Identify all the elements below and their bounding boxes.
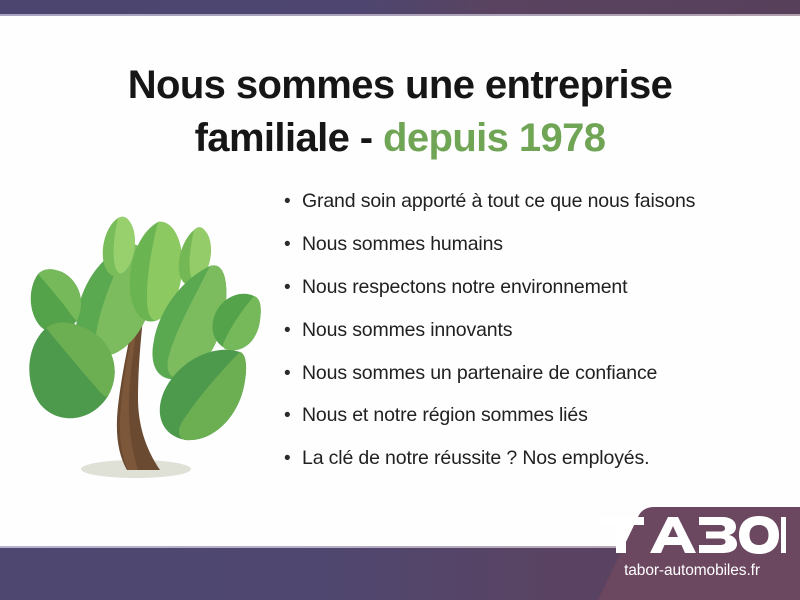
tabor-wordmark-icon	[598, 515, 786, 555]
bullet-icon: •	[284, 321, 302, 340]
list-item: • Nous respectons notre environnement	[284, 276, 784, 299]
brand-logo-panel[interactable]: tabor-automobiles.fr TABOR	[550, 505, 800, 600]
bullet-icon: •	[284, 449, 302, 468]
brand-tagline: tabor-automobiles.fr	[592, 562, 792, 580]
list-item-label: Nous et notre région sommes liés	[302, 404, 588, 427]
slide-canvas: Nous sommes une entreprise familiale - d…	[0, 0, 800, 600]
bullet-icon: •	[284, 406, 302, 425]
value-list: • Grand soin apporté à tout ce que nous …	[284, 190, 784, 490]
list-item-label: Nous sommes innovants	[302, 319, 512, 342]
list-item-label: La clé de notre réussite ? Nos employés.	[302, 447, 649, 470]
list-item: • La clé de notre réussite ? Nos employé…	[284, 447, 784, 470]
brand-logo-content: tabor-automobiles.fr TABOR	[592, 515, 792, 580]
page-title-line-1: Nous sommes une entreprise	[128, 63, 673, 107]
list-item-label: Nous sommes un partenaire de confiance	[302, 362, 657, 385]
list-item: • Nous et notre région sommes liés	[284, 404, 784, 427]
bullet-icon: •	[284, 278, 302, 297]
bullet-icon: •	[284, 192, 302, 211]
page-title-accent: depuis 1978	[383, 116, 605, 160]
page-title-line-2: familiale - depuis 1978	[0, 112, 800, 165]
page-title: Nous sommes une entreprise familiale - d…	[0, 59, 800, 165]
list-item-label: Nous respectons notre environnement	[302, 276, 627, 299]
list-item: • Nous sommes humains	[284, 233, 784, 256]
bullet-icon: •	[284, 364, 302, 383]
tree-illustration	[14, 186, 266, 486]
list-item: • Grand soin apporté à tout ce que nous …	[284, 190, 784, 213]
list-item: • Nous sommes un partenaire de confiance	[284, 362, 784, 385]
top-accent-bar	[0, 0, 800, 14]
top-accent-bar-highlight	[0, 14, 800, 16]
bullet-icon: •	[284, 235, 302, 254]
list-item-label: Nous sommes humains	[302, 233, 503, 256]
list-item: • Nous sommes innovants	[284, 319, 784, 342]
list-item-label: Grand soin apporté à tout ce que nous fa…	[302, 190, 695, 213]
page-title-line-2-plain: familiale -	[195, 116, 383, 160]
